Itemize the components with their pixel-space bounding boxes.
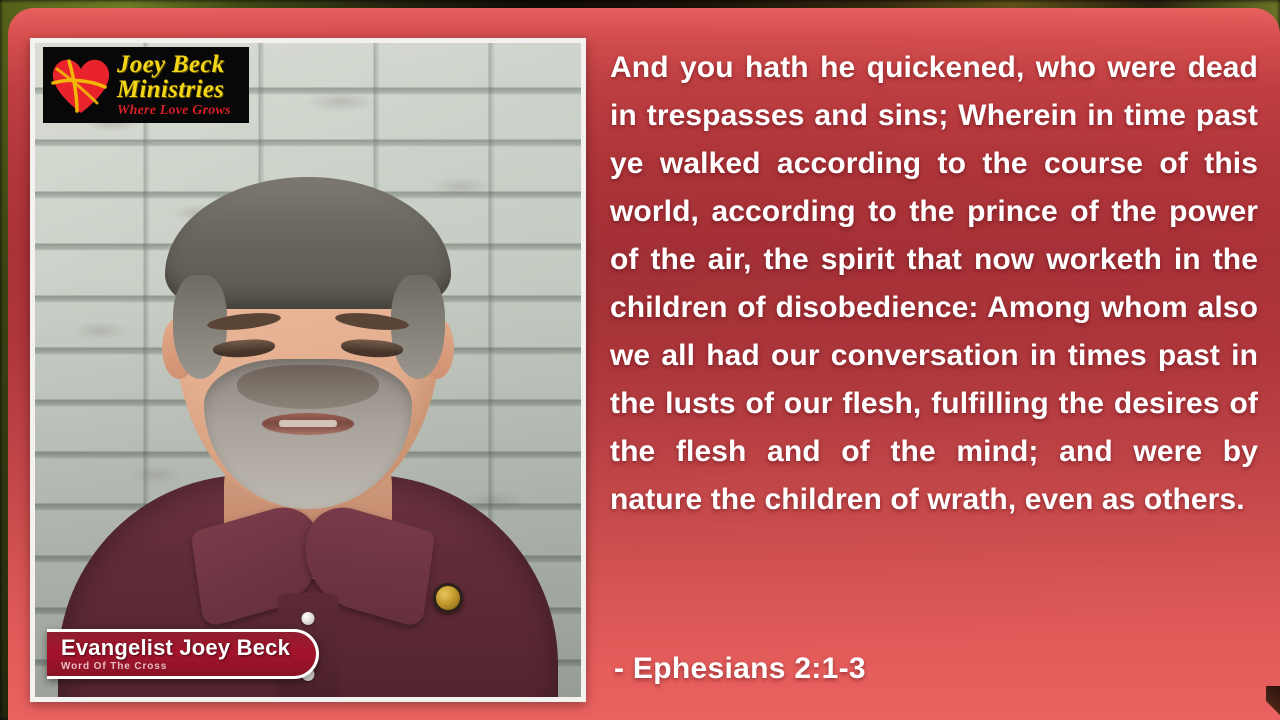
corner-notch bbox=[1266, 686, 1280, 720]
video-canvas: Joey Beck Ministries Where Love Grows Ev… bbox=[35, 43, 581, 697]
teeth bbox=[279, 420, 337, 427]
speaker-subtitle: Word Of The Cross bbox=[61, 661, 306, 672]
logo-line-2: Ministries bbox=[117, 77, 249, 102]
lower-third-banner: Evangelist Joey Beck Word Of The Cross bbox=[47, 629, 319, 679]
logo-line-1: Joey Beck bbox=[117, 52, 249, 77]
content-card: Joey Beck Ministries Where Love Grows Ev… bbox=[8, 8, 1280, 720]
video-panel[interactable]: Joey Beck Ministries Where Love Grows Ev… bbox=[30, 38, 586, 702]
speaker-mustache bbox=[237, 365, 379, 409]
shirt-button-top bbox=[302, 612, 315, 625]
scripture-panel: And you hath he quickened, who were dead… bbox=[610, 44, 1258, 694]
speaker-portrait bbox=[35, 43, 581, 697]
scripture-reference: - Ephesians 2:1-3 bbox=[614, 652, 866, 686]
lapel-pin-icon bbox=[433, 583, 463, 613]
heart-cross-icon bbox=[47, 53, 115, 117]
broadcast-slide: Joey Beck Ministries Where Love Grows Ev… bbox=[0, 0, 1280, 720]
scripture-text: And you hath he quickened, who were dead… bbox=[610, 44, 1258, 524]
logo-tagline: Where Love Grows bbox=[117, 104, 249, 118]
speaker-name: Evangelist Joey Beck bbox=[61, 636, 306, 659]
ministry-logo: Joey Beck Ministries Where Love Grows bbox=[43, 47, 249, 123]
logo-wordmark: Joey Beck Ministries Where Love Grows bbox=[115, 52, 249, 118]
